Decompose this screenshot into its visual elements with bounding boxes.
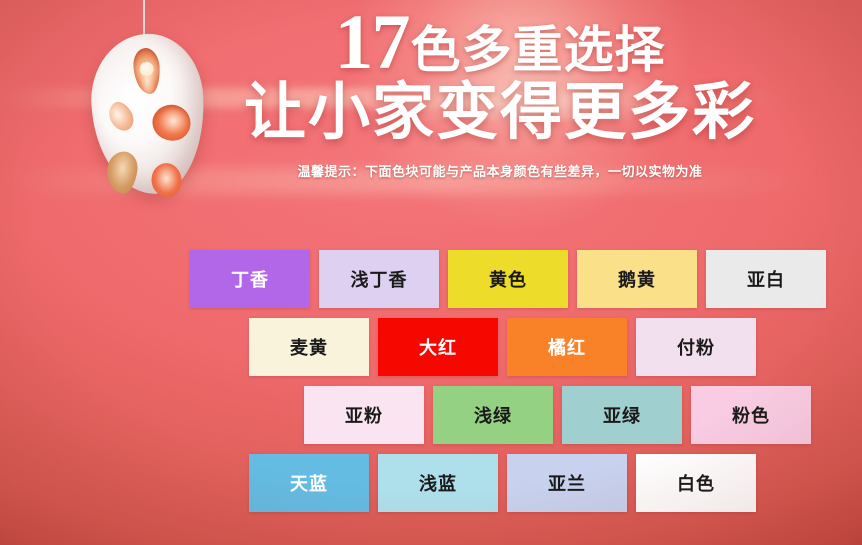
color-swatch[interactable]: 亚白 (706, 250, 826, 308)
headline-line-2: 让小家变得更多彩 (200, 80, 800, 147)
lamp-hole (104, 98, 138, 135)
color-disclaimer-notice: 温馨提示：下面色块可能与产品本身颜色有些差异，一切以实物为准 (200, 161, 800, 180)
color-swatch[interactable]: 丁香 (190, 250, 310, 308)
color-swatch[interactable]: 亚粉 (304, 386, 424, 444)
color-swatch[interactable]: 黄色 (448, 250, 568, 308)
color-swatch[interactable]: 橘红 (507, 318, 627, 376)
lamp-hole (152, 104, 192, 142)
headline-block: 17 色多重选择 让小家变得更多彩 温馨提示：下面色块可能与产品本身颜色有些差异… (200, 6, 800, 180)
color-swatch[interactable]: 浅蓝 (378, 454, 498, 512)
color-swatch[interactable]: 亚兰 (507, 454, 627, 512)
pendant-lamp-image (88, 0, 208, 200)
color-swatch-row: 丁香浅丁香黄色鹅黄亚白 (0, 250, 862, 308)
color-swatch[interactable]: 亚绿 (562, 386, 682, 444)
color-swatch[interactable]: 鹅黄 (577, 250, 697, 308)
lamp-hole (151, 162, 183, 198)
color-swatch[interactable]: 大红 (378, 318, 498, 376)
color-swatch[interactable]: 粉色 (691, 386, 811, 444)
color-swatch[interactable]: 天蓝 (249, 454, 369, 512)
color-swatch[interactable]: 浅绿 (433, 386, 553, 444)
color-swatch-row: 亚粉浅绿亚绿粉色 (0, 386, 862, 444)
headline-line-1: 17 色多重选择 (200, 6, 800, 78)
color-count-number: 17 (335, 6, 409, 78)
color-swatch[interactable]: 麦黄 (249, 318, 369, 376)
promo-banner: 17 色多重选择 让小家变得更多彩 温馨提示：下面色块可能与产品本身颜色有些差异… (0, 0, 862, 545)
color-swatch-grid: 丁香浅丁香黄色鹅黄亚白麦黄大红橘红付粉亚粉浅绿亚绿粉色天蓝浅蓝亚兰白色 (0, 250, 862, 522)
color-swatch[interactable]: 付粉 (636, 318, 756, 376)
headline-line-1-text: 色多重选择 (411, 25, 666, 78)
lamp-hole (105, 150, 140, 195)
color-swatch[interactable]: 浅丁香 (319, 250, 439, 308)
color-swatch-row: 天蓝浅蓝亚兰白色 (0, 454, 862, 512)
color-swatch-row: 麦黄大红橘红付粉 (0, 318, 862, 376)
lamp-shade (88, 31, 208, 197)
color-swatch[interactable]: 白色 (636, 454, 756, 512)
